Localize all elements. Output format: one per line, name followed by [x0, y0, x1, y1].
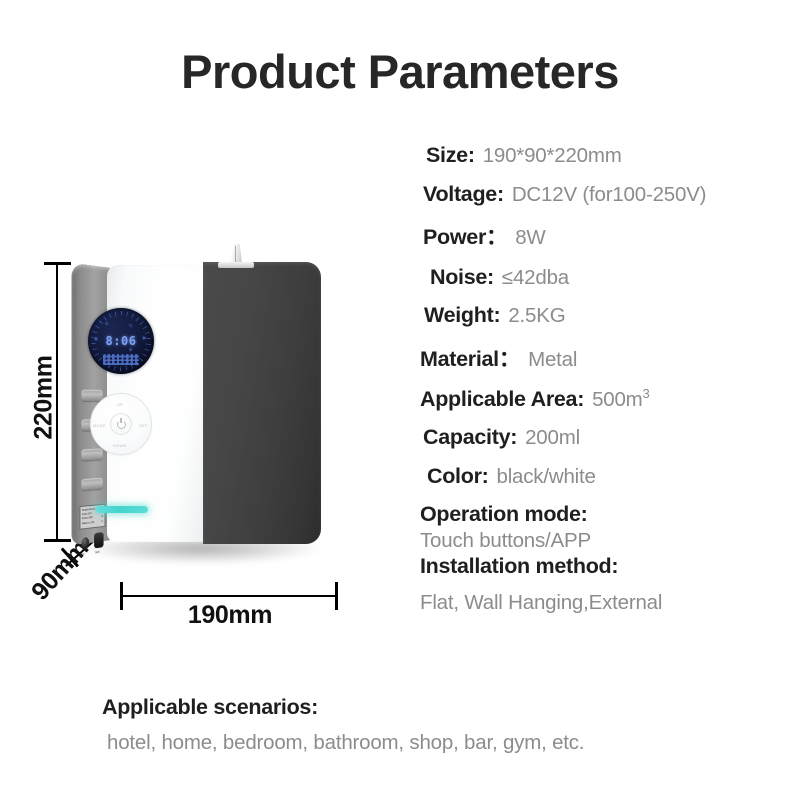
product-image-diffuser: Model:AR-01 U Input:12V K Power:8W R Mad…	[70, 250, 340, 560]
spec-value-size: 190*90*220mm	[483, 144, 622, 168]
spec-value-weight: 2.5KG	[508, 304, 565, 328]
sticker-row: Made in CN C	[82, 520, 103, 527]
spec-row-voltage: Voltage: DC12V (for100-250V)	[423, 182, 792, 207]
lcd-fan-icon: ✻	[129, 347, 132, 352]
spec-label-noise: Noise:	[430, 265, 494, 290]
spec-row-capacity: Capacity: 200ml	[423, 425, 792, 450]
spec-value-applicable-area-exponent: 3	[643, 386, 650, 401]
spec-label-applicable-area: Applicable Area:	[420, 387, 584, 412]
lcd-cycle-icon: ↻	[129, 323, 132, 328]
power-button[interactable]	[110, 413, 132, 435]
spec-row-weight: Weight: 2.5KG	[424, 303, 792, 328]
vent-slot-icon	[81, 448, 102, 460]
dimension-height-label: 220mm	[30, 343, 59, 453]
nozzle-seam	[235, 246, 236, 262]
sticker-value: C	[101, 520, 103, 524]
applicable-scenarios-label: Applicable scenarios:	[102, 695, 762, 720]
spec-value-operation-mode: Touch buttons/APP	[420, 529, 792, 553]
spec-row-operation-mode: Operation mode: Touch buttons/APP	[420, 502, 792, 553]
dc-port-label: DC	[80, 552, 84, 557]
led-light-bar	[96, 506, 148, 513]
spec-value-noise: ≤42dba	[502, 266, 569, 290]
button-down-label[interactable]: DOWN	[113, 443, 126, 448]
spec-label-material: Material：	[420, 342, 520, 373]
spec-value-color: black/white	[497, 465, 596, 489]
vent-slot-icon	[81, 478, 102, 491]
spec-row-noise: Noise: ≤42dba	[430, 265, 792, 290]
power-icon	[117, 420, 126, 429]
spec-label-color: Color:	[427, 464, 489, 489]
spec-value-power: 8W	[515, 226, 545, 250]
power-switch-icon	[94, 532, 104, 548]
spec-row-installation-method: Installation method: Flat, Wall Hanging,…	[420, 554, 792, 615]
spec-value-capacity: 200ml	[525, 426, 580, 450]
spec-value-applicable-area-number: 500m	[592, 388, 642, 411]
spec-row-material: Material： Metal	[420, 342, 792, 373]
product-figure: 220mm 190mm 90mm Model:AR-01 U Input:12V…	[18, 215, 388, 660]
nozzle-base-cap	[218, 262, 254, 268]
spec-label-power: Power：	[423, 220, 507, 251]
device-dark-panel	[203, 262, 321, 544]
dimension-width-line	[120, 595, 338, 597]
applicable-scenarios-section: Applicable scenarios: hotel, home, bedro…	[102, 695, 762, 755]
spec-label-installation-method: Installation method:	[420, 554, 618, 578]
spec-label-voltage: Voltage:	[423, 182, 504, 207]
sticker-key: Made in CN	[82, 521, 94, 527]
spec-value-voltage: DC12V (for100-250V)	[512, 183, 706, 207]
specification-list: Size: 190*90*220mm Voltage: DC12V (for10…	[420, 143, 792, 621]
spec-row-power: Power： 8W	[423, 220, 792, 251]
spec-row-applicable-area: Applicable Area: 500m3	[420, 386, 792, 412]
spec-label-capacity: Capacity:	[423, 425, 517, 450]
vent-slot-icon	[81, 390, 102, 401]
page-title: Product Parameters	[0, 44, 800, 99]
spec-label-weight: Weight:	[424, 303, 500, 328]
lcd-segment-bars	[103, 354, 139, 365]
spec-label-operation-mode: Operation mode:	[420, 502, 588, 526]
control-button-ring[interactable]: UP MODE SET DOWN	[90, 393, 152, 455]
switch-port-label: SW	[95, 550, 99, 555]
spec-label-size: Size:	[426, 143, 475, 168]
dimension-height-tick-top	[44, 262, 71, 265]
spec-row-color: Color: black/white	[427, 464, 792, 489]
dimension-width-label: 190mm	[140, 601, 320, 630]
lcd-display-screen: ❄ ↻ ◀ ▶ 8:06 ✻	[88, 308, 154, 374]
lcd-time-readout: 8:06	[88, 334, 154, 348]
lcd-snowflake-icon: ❄	[105, 321, 108, 326]
spec-value-installation-method: Flat, Wall Hanging,External	[420, 591, 792, 615]
button-up-label[interactable]: UP	[117, 402, 123, 407]
spec-value-material: Metal	[528, 348, 577, 372]
spec-value-applicable-area: 500m3	[592, 386, 650, 412]
applicable-scenarios-value: hotel, home, bedroom, bathroom, shop, ba…	[107, 731, 762, 755]
spec-row-size: Size: 190*90*220mm	[426, 143, 792, 168]
dimension-width-tick-left	[120, 582, 123, 610]
dimension-width-tick-right	[335, 582, 338, 610]
button-mode-label[interactable]: MODE	[93, 423, 106, 428]
button-set-label[interactable]: SET	[139, 423, 147, 428]
